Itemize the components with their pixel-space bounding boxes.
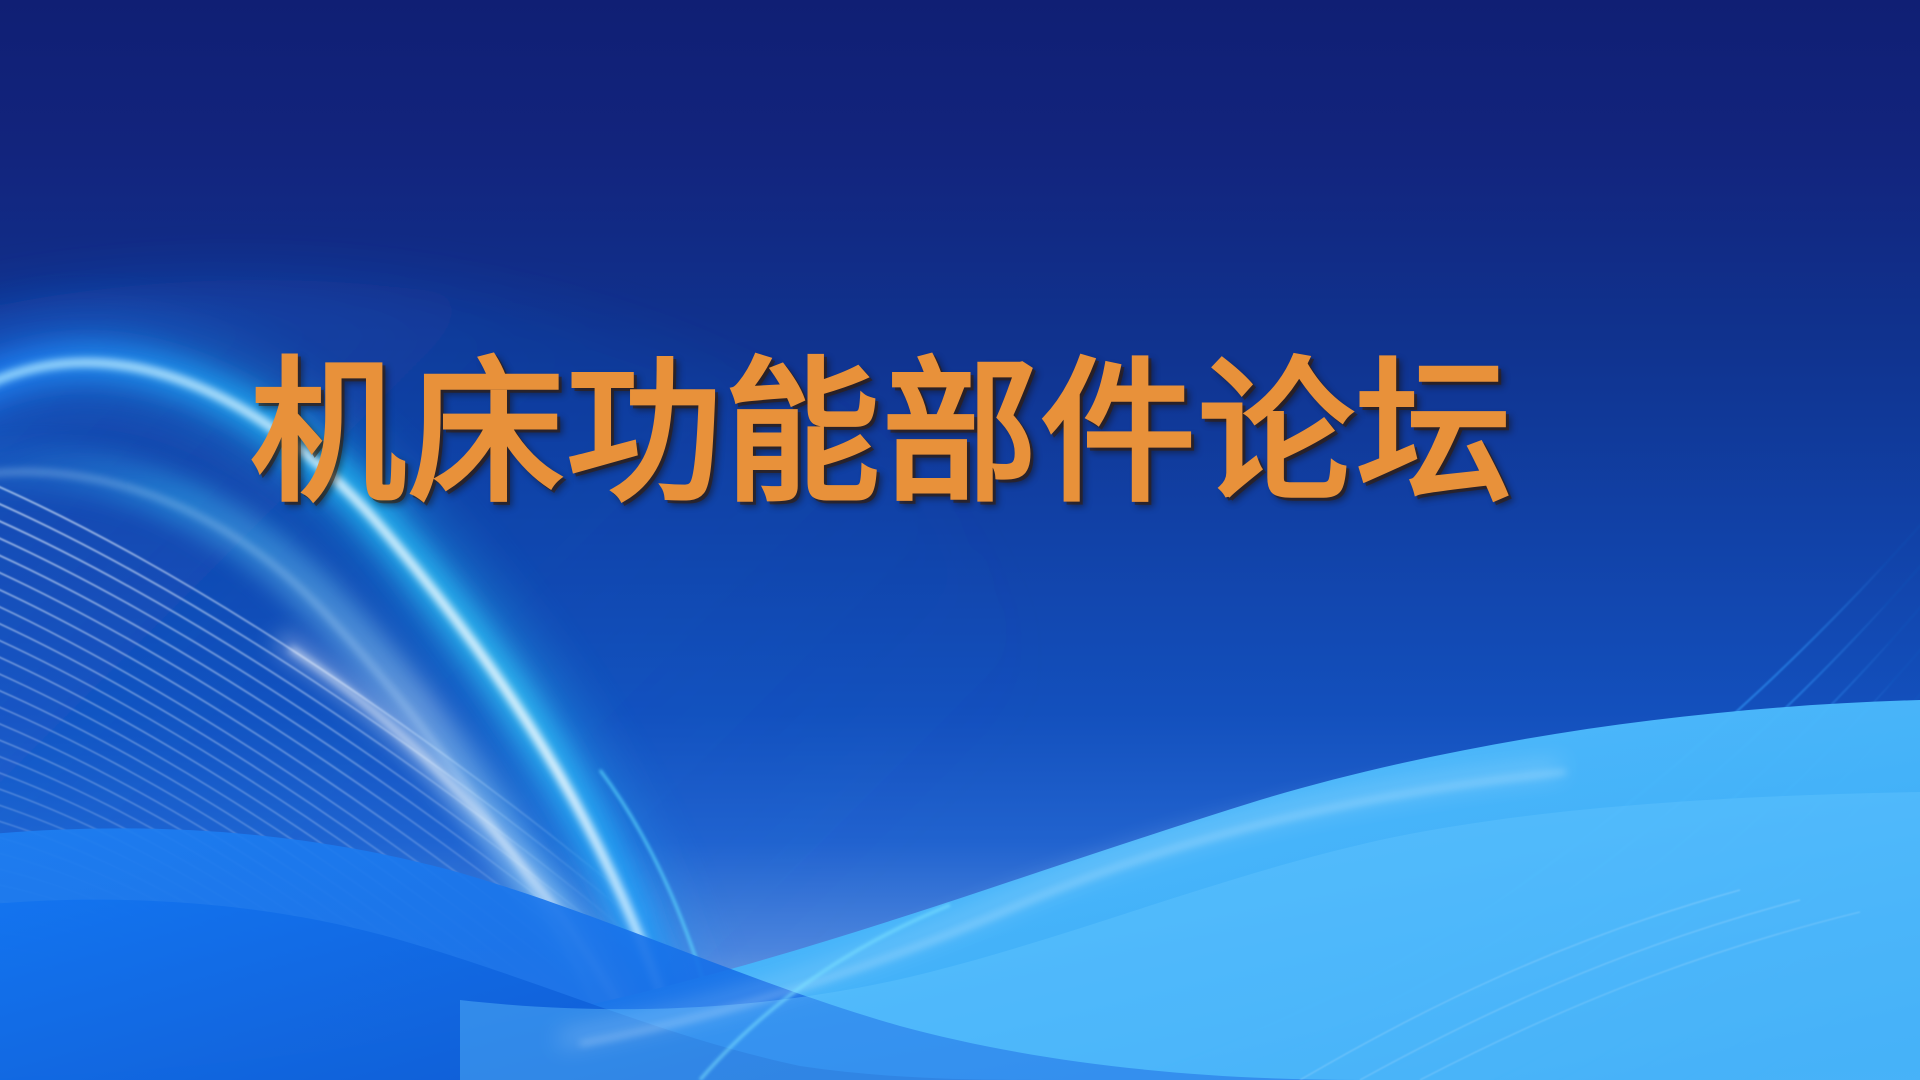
presentation-slide: 机床功能部件论坛 [0, 0, 1920, 1080]
slide-background [0, 0, 1920, 1080]
